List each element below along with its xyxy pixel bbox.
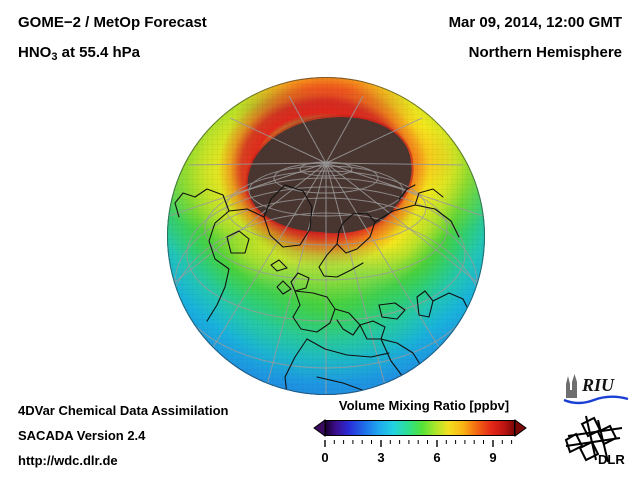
dlr-logo: DLR — [564, 414, 630, 466]
credit-line-url: http://wdc.dlr.de — [18, 453, 118, 468]
page-title-species: HNO3 at 55.4 hPa — [18, 44, 140, 63]
colorbar-bar-row — [313, 418, 535, 438]
credit-line-version: SACADA Version 2.4 — [18, 428, 145, 443]
map-region-label: Northern Hemisphere — [469, 44, 622, 61]
colorbar-gradient — [325, 420, 515, 436]
globe-map — [167, 77, 485, 395]
colorbar-tick-label-6: 6 — [433, 450, 440, 465]
colorbar-tick-label-3: 3 — [377, 450, 384, 465]
colorbar-tick-labels: 0 3 6 9 — [313, 450, 535, 470]
species-pressure-level: at 55.4 hPa — [57, 44, 140, 61]
credit-line-method: 4DVar Chemical Data Assimilation — [18, 403, 229, 418]
colorbar-tick-label-0: 0 — [321, 450, 328, 465]
riu-logo: RIU — [560, 372, 632, 408]
colorbar-tick-label-9: 9 — [489, 450, 496, 465]
species-formula-prefix: HNO — [18, 44, 51, 61]
page-title-instrument: GOME−2 / MetOp Forecast — [18, 14, 207, 31]
colorbar: Volume Mixing Ratio [ppbv] — [313, 398, 535, 476]
forecast-datetime: Mar 09, 2014, 12:00 GMT — [449, 14, 622, 31]
riu-logo-text: RIU — [581, 375, 615, 395]
riu-cathedral-towers-icon — [566, 374, 577, 398]
globe-outline — [167, 77, 485, 395]
dlr-logo-text: DLR — [598, 452, 625, 466]
colorbar-tick-marks — [313, 440, 535, 450]
colorbar-title: Volume Mixing Ratio [ppbv] — [313, 398, 535, 413]
